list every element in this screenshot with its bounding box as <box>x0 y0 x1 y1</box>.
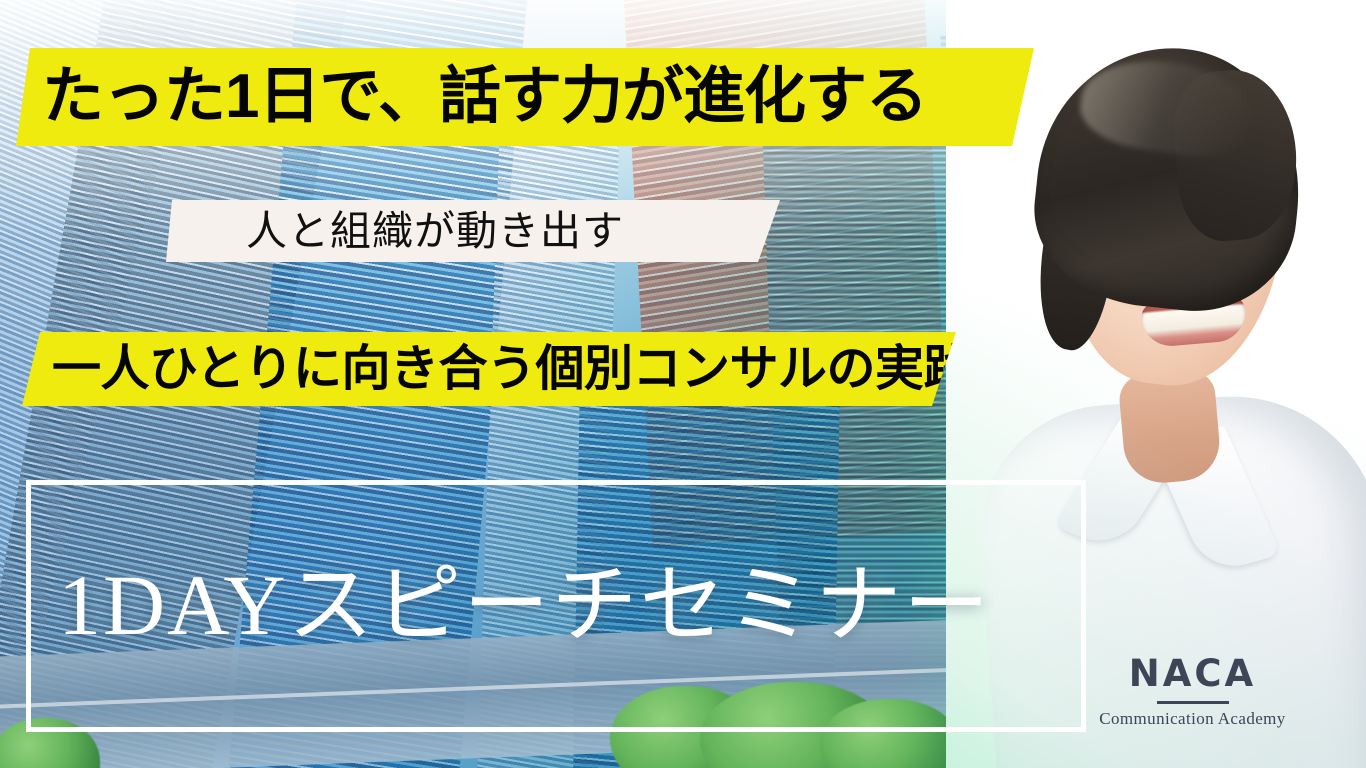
logo-subtitle: Communication Academy <box>1085 709 1300 729</box>
tagline-text: 一人ひとりに向き合う個別コンサルの実践型 <box>52 345 1021 394</box>
subhead-text: 人と組織が動き出す <box>246 211 624 252</box>
logo-wordmark: NACA <box>1085 655 1300 694</box>
tagline-banner: 一人ひとりに向き合う個別コンサルの実践型 <box>22 332 956 406</box>
logo-divider-rule <box>1157 701 1229 704</box>
main-title: 1DAYスピーチセミナー <box>58 560 1078 650</box>
headline-text: たった1日で、話す力が進化する <box>42 66 927 128</box>
naca-logo: NACA Communication Academy <box>1085 655 1300 729</box>
presenter-neck <box>1117 368 1222 486</box>
subhead-banner: 人と組織が動き出す <box>166 200 780 262</box>
seminar-poster: たった1日で、話す力が進化する 人と組織が動き出す 一人ひとりに向き合う個別コン… <box>0 0 1366 768</box>
headline-banner: たった1日で、話す力が進化する <box>16 48 1034 146</box>
